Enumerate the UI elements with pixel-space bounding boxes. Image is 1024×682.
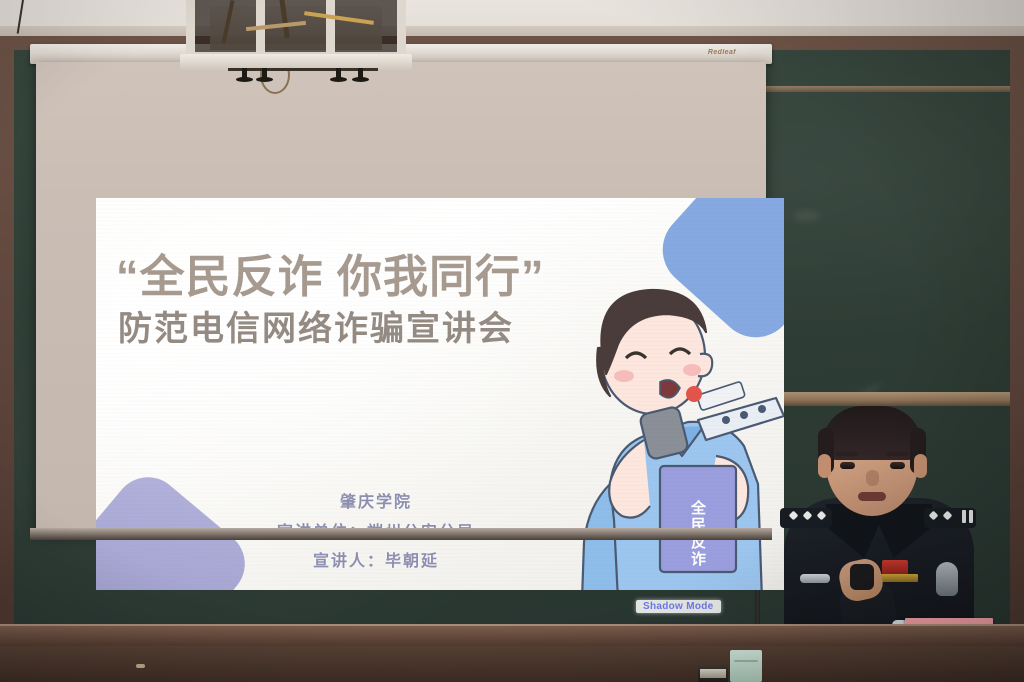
presentation-clicker[interactable] [850,564,874,590]
chest-emblem [882,560,908,575]
ledge-small-box-face [700,669,726,678]
shadow-mode-badge: Shadow Mode [636,600,721,613]
speaker-eye-right [890,462,905,469]
blackboard-divider-horizontal [760,392,1010,406]
speaker-ear-left [818,454,831,478]
ledge-package-stripe [734,660,758,662]
chalk-smudge [794,210,820,222]
chalk-ledge [0,624,1024,646]
projector-post-left [186,0,195,60]
speaker-nose [866,470,879,486]
projector-cage [186,0,406,60]
speaker-eye-left [840,462,855,469]
projector-post-right [397,0,406,60]
rank-bar [962,510,966,523]
speaker-mouth [858,492,886,501]
chalk-piece[interactable] [136,664,145,668]
screenshot-root: Redleaf “全民反诈 你我同行” 防范电信网络诈骗宣讲会 肇庆学院 宣讲单… [0,0,1024,682]
chalk-ledge-highlight [0,624,1024,626]
projector-foot [262,68,267,80]
projection-screen-bottom-bar[interactable] [30,528,772,540]
speaker-brow-left [836,452,858,456]
chalk-ledge-lower [0,646,1024,682]
projector-post-mid-left [256,0,265,60]
arm-patch [936,562,958,596]
projector-rail [228,68,378,71]
rank-bar [969,510,973,523]
speaker-brow-right [886,452,908,456]
projector-foot [242,68,247,80]
ledge-package [730,650,762,682]
projection-screen: “全民反诈 你我同行” 防范电信网络诈骗宣讲会 肇庆学院 宣讲单位：端州公安分局… [36,62,766,532]
projector-foot [336,68,341,80]
screen-brand-label: Redleaf [708,49,736,56]
projector-foot [358,68,363,80]
projector-mount [186,0,406,78]
speaker-ear-right [914,454,927,478]
chest-wing-badge [800,574,830,583]
blackboard-top-trim [760,86,1010,92]
projector-post-mid-right [326,0,335,60]
